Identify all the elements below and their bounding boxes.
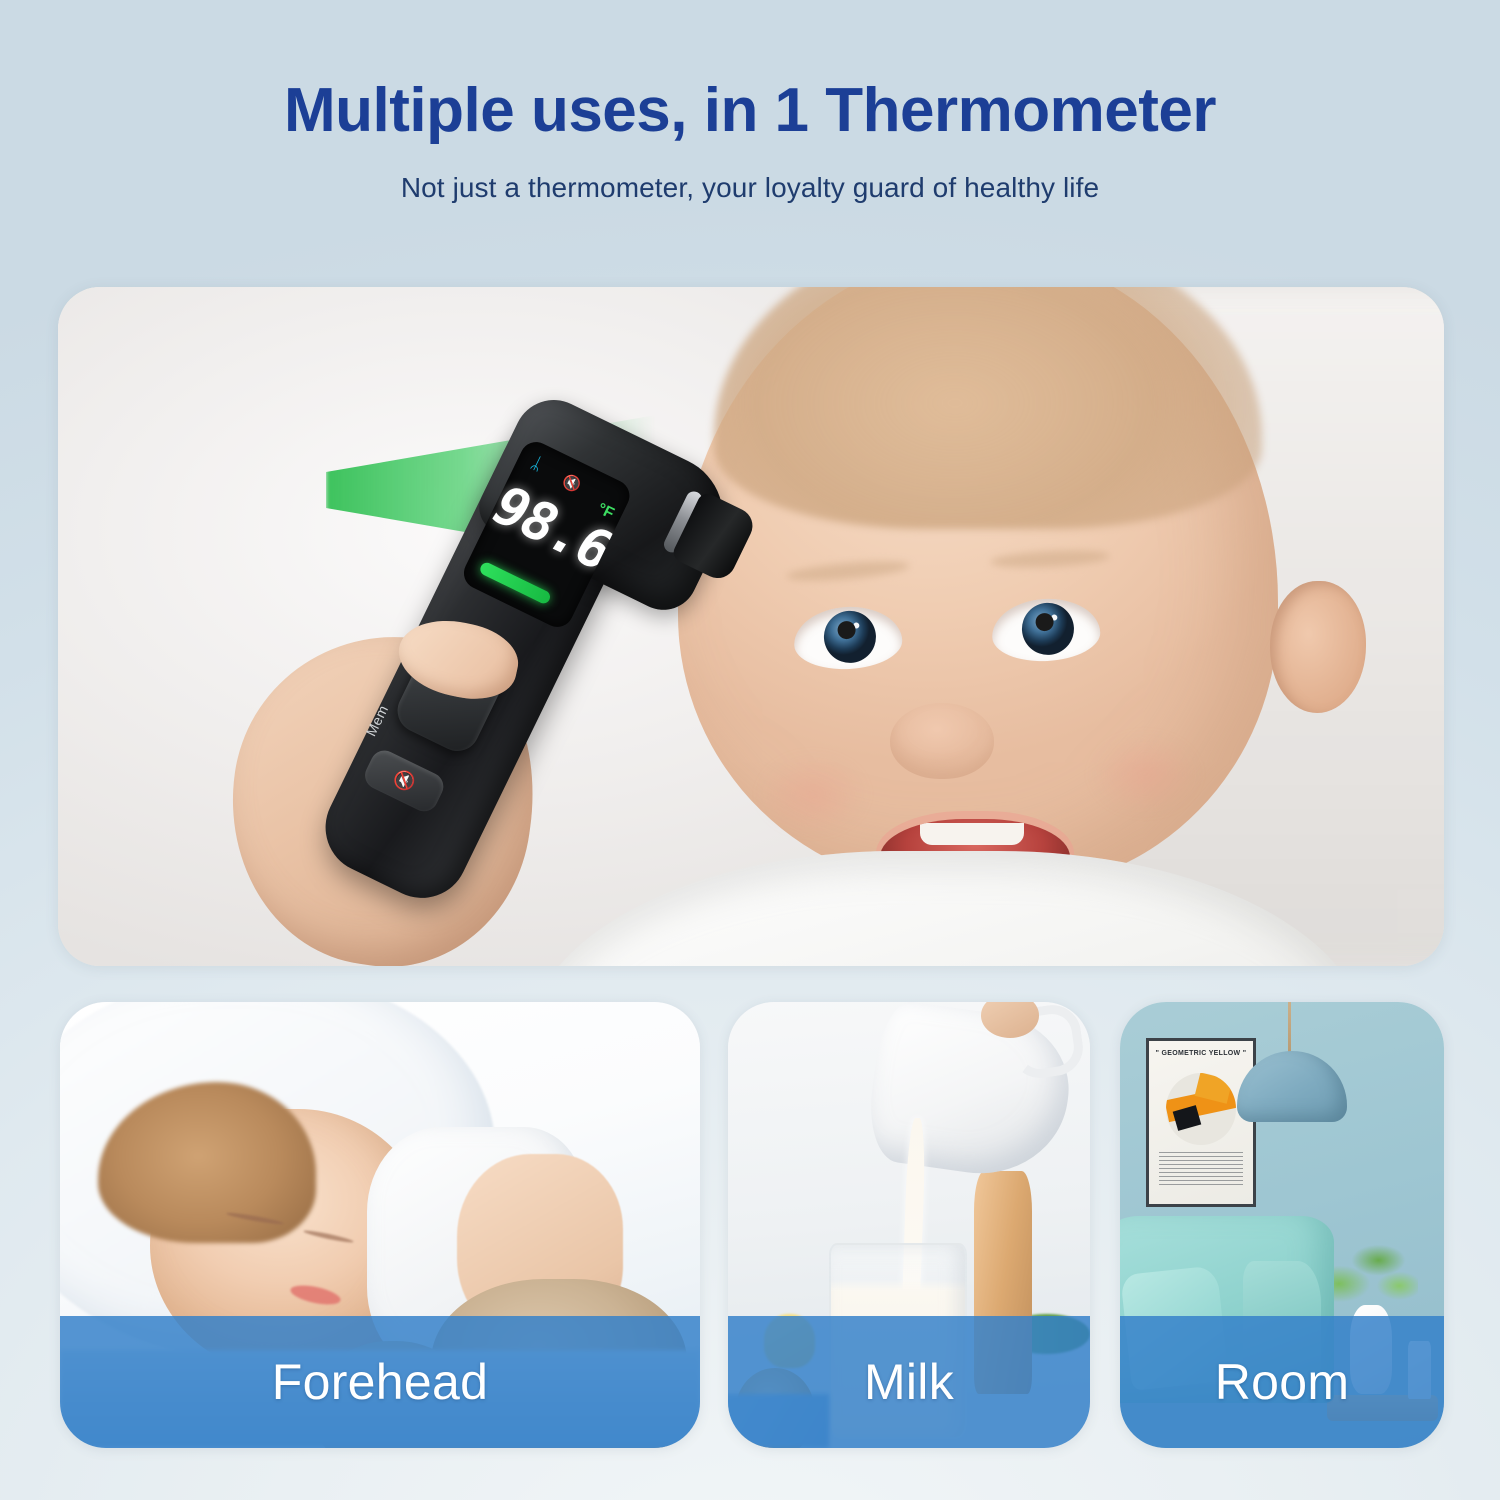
card-label-milk: Milk	[728, 1316, 1090, 1448]
card-forehead[interactable]: Forehead	[60, 1002, 700, 1448]
promo-page: Multiple uses, in 1 Thermometer Not just…	[0, 0, 1500, 1500]
poster-title: " GEOMETRIC YELLOW "	[1155, 1050, 1247, 1065]
lamp-cord	[1288, 1002, 1291, 1056]
hero-image: ᛦ 🔇 °F 98.6 Mem 🔇	[58, 287, 1444, 966]
card-room[interactable]: " GEOMETRIC YELLOW "	[1120, 1002, 1444, 1448]
card-label-text: Room	[1215, 1353, 1350, 1411]
poster-caption-lines	[1159, 1152, 1242, 1188]
card-label-text: Forehead	[272, 1353, 488, 1411]
header: Multiple uses, in 1 Thermometer Not just…	[0, 78, 1500, 204]
poster-artwork	[1166, 1073, 1237, 1145]
baby-nose	[890, 703, 994, 779]
iris-right	[1021, 602, 1076, 657]
page-title: Multiple uses, in 1 Thermometer	[0, 78, 1500, 143]
card-label-forehead: Forehead	[60, 1316, 700, 1448]
mute-button-icon: 🔇	[390, 768, 418, 794]
baby-cheek-left	[738, 739, 888, 849]
card-milk[interactable]: Milk	[728, 1002, 1090, 1448]
card-label-text: Milk	[864, 1353, 954, 1411]
card-label-room: Room	[1120, 1316, 1444, 1448]
mute-icon: 🔇	[560, 473, 583, 495]
bluetooth-icon: ᛦ	[529, 454, 546, 474]
framed-poster: " GEOMETRIC YELLOW "	[1146, 1038, 1256, 1207]
iris-left	[823, 610, 878, 665]
page-subtitle: Not just a thermometer, your loyalty gua…	[0, 172, 1500, 204]
baby-cheek-right	[1070, 719, 1220, 829]
baby-ear	[1270, 581, 1366, 713]
use-case-cards: Forehead Milk	[0, 1002, 1500, 1462]
